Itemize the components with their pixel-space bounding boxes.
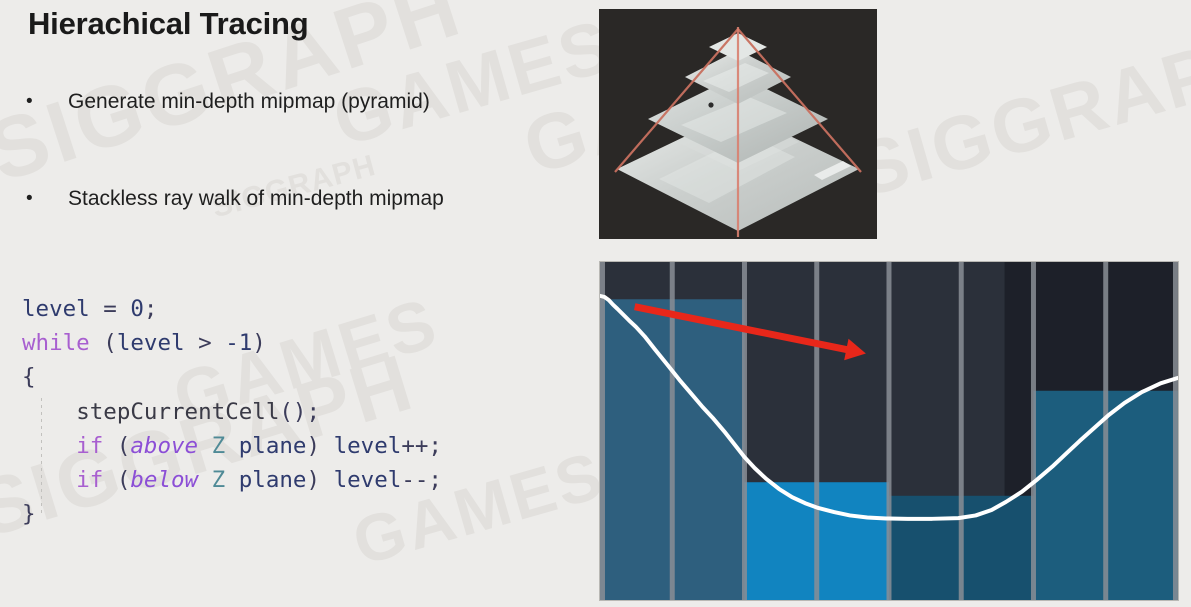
code-token: below <box>130 467 198 493</box>
code-token: ) <box>306 433 333 459</box>
code-line: if (above Z plane) level++; <box>22 429 442 463</box>
code-token: ( <box>103 433 130 459</box>
page-title: Hierachical Tracing <box>28 6 309 42</box>
pyramid-illustration <box>599 9 877 239</box>
bullet-item-stackless-walk: • Stackless ray walk of min-depth mipmap <box>26 186 444 212</box>
code-token: ; <box>144 296 158 322</box>
watermark-games: GAMES <box>324 2 623 163</box>
code-token: (); <box>279 399 320 425</box>
code-token: Z <box>212 467 226 493</box>
code-token: if <box>76 433 103 459</box>
code-token: level <box>22 296 90 322</box>
watermark-siggraph: SIGGRAPH <box>846 13 1191 215</box>
code-token: if <box>76 467 103 493</box>
mipmap-cell-fill <box>1033 391 1105 601</box>
code-token: 0 <box>130 296 144 322</box>
bullet-marker-icon: • <box>26 89 40 115</box>
code-token: ++; <box>401 433 442 459</box>
code-token <box>90 296 104 322</box>
code-token: level <box>117 330 185 356</box>
code-token: ) <box>306 467 333 493</box>
code-token: above <box>130 433 198 459</box>
code-token: while <box>22 330 90 356</box>
mipmap-cell-fill <box>744 482 816 601</box>
mipmap-cell-fill <box>672 299 744 601</box>
bullet-label: Stackless ray walk of min-depth mipmap <box>68 186 444 212</box>
code-token <box>22 433 76 459</box>
code-token <box>198 467 212 493</box>
bullet-label: Generate min-depth mipmap (pyramid) <box>68 89 430 115</box>
mipmap-cell-fill <box>600 299 672 601</box>
code-line: level = 0; <box>22 292 442 326</box>
code-token: ) <box>252 330 266 356</box>
code-line: } <box>22 497 442 531</box>
code-line: if (below Z plane) level--; <box>22 463 442 497</box>
code-line: stepCurrentCell(); <box>22 395 442 429</box>
chart-canvas <box>600 262 1178 601</box>
mipmap-cell-fill <box>1106 391 1178 601</box>
code-line: { <box>22 360 442 394</box>
code-token: ( <box>103 467 130 493</box>
code-token: plane <box>239 433 307 459</box>
slide-root: SIGGRAPH GAMES GAMES SIGGRAPH GAMES SIGG… <box>0 0 1191 607</box>
min-depth-mipmap-chart <box>599 261 1179 601</box>
mipmap-cell-fill <box>817 482 889 601</box>
code-token: = <box>103 296 117 322</box>
code-token: Z <box>212 433 226 459</box>
code-line: while (level > -1) <box>22 326 442 360</box>
code-token: -1 <box>225 330 252 356</box>
code-token <box>22 467 76 493</box>
code-indent-guide <box>41 398 42 513</box>
bullet-marker-icon: • <box>26 186 40 212</box>
code-token <box>225 433 239 459</box>
code-token <box>225 467 239 493</box>
code-token <box>212 330 226 356</box>
code-token <box>185 330 199 356</box>
code-token <box>198 433 212 459</box>
code-block: level = 0;while (level > -1){ stepCurren… <box>22 292 442 531</box>
bullet-item-generate-mipmap: • Generate min-depth mipmap (pyramid) <box>26 89 430 115</box>
code-token: level <box>334 467 402 493</box>
code-token <box>22 399 76 425</box>
mipmap-cell-fill <box>961 496 1033 601</box>
code-token: ( <box>90 330 117 356</box>
mipmap-cell-fill <box>889 496 961 601</box>
code-token: stepCurrentCell <box>76 399 279 425</box>
mipmap-pyramid-figure <box>599 9 877 239</box>
code-token: --; <box>401 467 442 493</box>
code-token: level <box>334 433 402 459</box>
code-token <box>117 296 131 322</box>
code-token: plane <box>239 467 307 493</box>
code-token: } <box>22 501 36 527</box>
code-token: > <box>198 330 212 356</box>
code-token: { <box>22 364 36 390</box>
